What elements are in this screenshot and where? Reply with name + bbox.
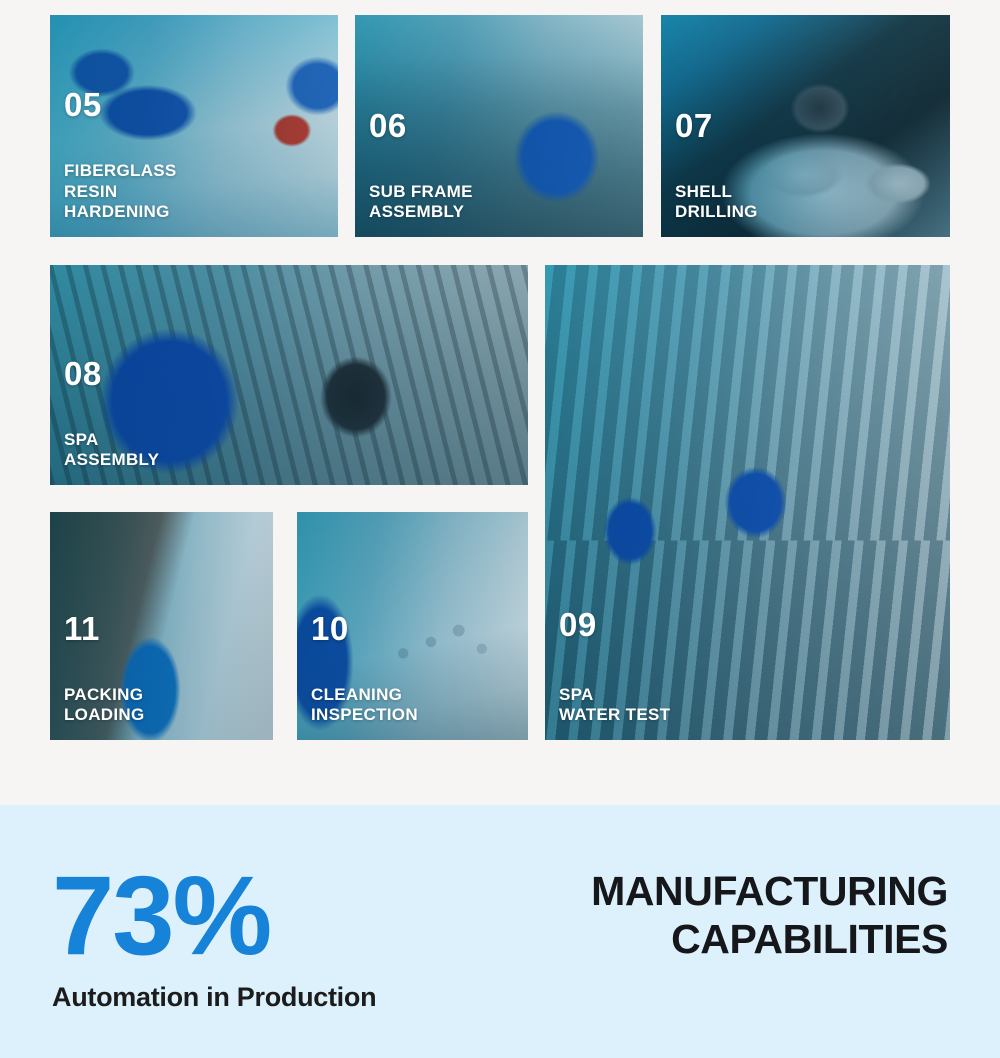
card-number: 07 xyxy=(675,109,950,142)
card-label: FIBERGLASS RESIN HARDENING xyxy=(64,161,338,223)
card-number: 11 xyxy=(64,612,273,645)
process-card-07[interactable]: 07 SHELL DRILLING xyxy=(661,15,950,237)
process-card-08[interactable]: 08 SPA ASSEMBLY xyxy=(50,265,528,485)
card-caption: 11 PACKING LOADING xyxy=(50,612,273,740)
process-card-11[interactable]: 11 PACKING LOADING xyxy=(50,512,273,740)
card-caption: 08 SPA ASSEMBLY xyxy=(50,357,528,485)
card-label: SPA ASSEMBLY xyxy=(64,430,528,471)
process-card-05[interactable]: 05 FIBERGLASS RESIN HARDENING xyxy=(50,15,338,237)
card-label: CLEANING INSPECTION xyxy=(311,685,528,726)
card-caption: 06 SUB FRAME ASSEMBLY xyxy=(355,109,643,237)
card-caption: 05 FIBERGLASS RESIN HARDENING xyxy=(50,88,338,237)
process-card-06[interactable]: 06 SUB FRAME ASSEMBLY xyxy=(355,15,643,237)
card-number: 05 xyxy=(64,88,338,121)
card-caption: 09 SPA WATER TEST xyxy=(545,608,950,740)
card-label: SPA WATER TEST xyxy=(559,685,950,726)
card-number: 06 xyxy=(369,109,643,142)
card-caption: 10 CLEANING INSPECTION xyxy=(297,612,528,740)
automation-stat-block: 73% Automation in Production xyxy=(52,867,376,1013)
card-number: 09 xyxy=(559,608,950,641)
banner-heading: MANUFACTURING CAPABILITIES xyxy=(591,867,948,964)
process-card-09[interactable]: 09 SPA WATER TEST xyxy=(545,265,950,740)
card-caption: 07 SHELL DRILLING xyxy=(661,109,950,237)
infographic-page: 05 FIBERGLASS RESIN HARDENING 06 SUB FRA… xyxy=(0,0,1000,1058)
stat-caption: Automation in Production xyxy=(52,982,376,1013)
process-card-grid: 05 FIBERGLASS RESIN HARDENING 06 SUB FRA… xyxy=(0,0,1000,805)
card-number: 10 xyxy=(311,612,528,645)
card-number: 08 xyxy=(64,357,528,390)
card-label: SUB FRAME ASSEMBLY xyxy=(369,182,643,223)
card-label: PACKING LOADING xyxy=(64,685,273,726)
stats-banner: 73% Automation in Production MANUFACTURI… xyxy=(0,805,1000,1058)
process-card-10[interactable]: 10 CLEANING INSPECTION xyxy=(297,512,528,740)
card-label: SHELL DRILLING xyxy=(675,182,950,223)
stat-value: 73% xyxy=(52,867,376,966)
